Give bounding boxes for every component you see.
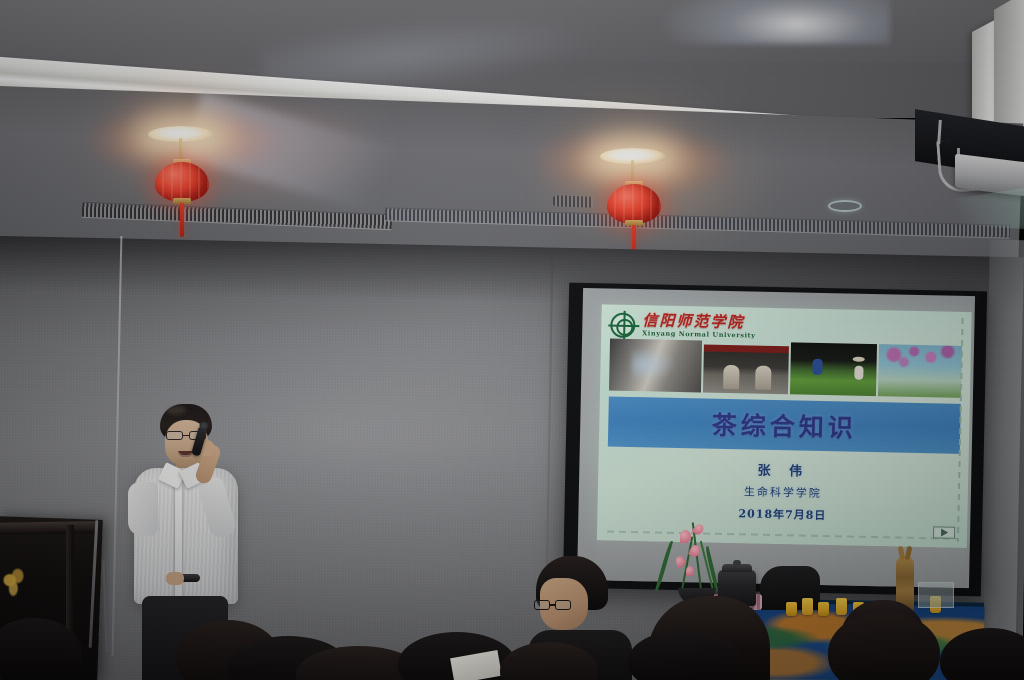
tea-ceremony-photo [703,344,789,394]
red-lantern-icon [607,184,661,224]
speaker-left-sleeve [128,482,158,536]
glasses-icon [534,600,572,610]
corridor-photo [609,339,702,393]
blossom-photo [878,344,962,398]
kettle-knob [733,560,741,566]
flower-blossom [686,566,694,576]
play-triangle [941,528,948,536]
wall-panel-right [982,240,1024,680]
screen-surface: 信阳师范学院 Xinyang Normal University [577,288,975,588]
speaker-left-hand [166,572,184,585]
lantern-tassel [180,203,184,237]
presentation-slide: 信阳师范学院 Xinyang Normal University [597,304,972,548]
red-lantern-icon [155,162,209,202]
university-logo-icon [610,312,636,338]
recessed-round-light [828,200,862,212]
teacup [802,598,813,615]
piano-lid [0,521,97,535]
presenter-department: 生命科学学院 [598,480,968,504]
slide-presenter-block: 张 伟 生命科学学院 2018年7月8日 [597,456,968,526]
slide-photo-strip [609,339,962,398]
projection-screen: 信阳师范学院 Xinyang Normal University [563,283,987,597]
teacup [786,602,797,616]
teacup [818,602,829,616]
university-name-block: 信阳师范学院 Xinyang Normal University [642,313,756,339]
flower-blossom [680,530,691,543]
tea-plantation-photo [790,342,876,396]
ceiling-spot-top-right [660,0,890,44]
slide-title: 茶综合知识 [711,406,857,445]
university-name-en: Xinyang Normal University [642,330,756,339]
lecture-hall-scene: 信阳师范学院 Xinyang Normal University [0,0,1024,680]
university-name-cn: 信阳师范学院 [642,313,756,330]
play-icon[interactable] [933,526,955,538]
slide-title-band: 茶综合知识 [608,397,961,454]
small-vent [553,195,593,207]
piano-gold-decoration [0,566,27,597]
